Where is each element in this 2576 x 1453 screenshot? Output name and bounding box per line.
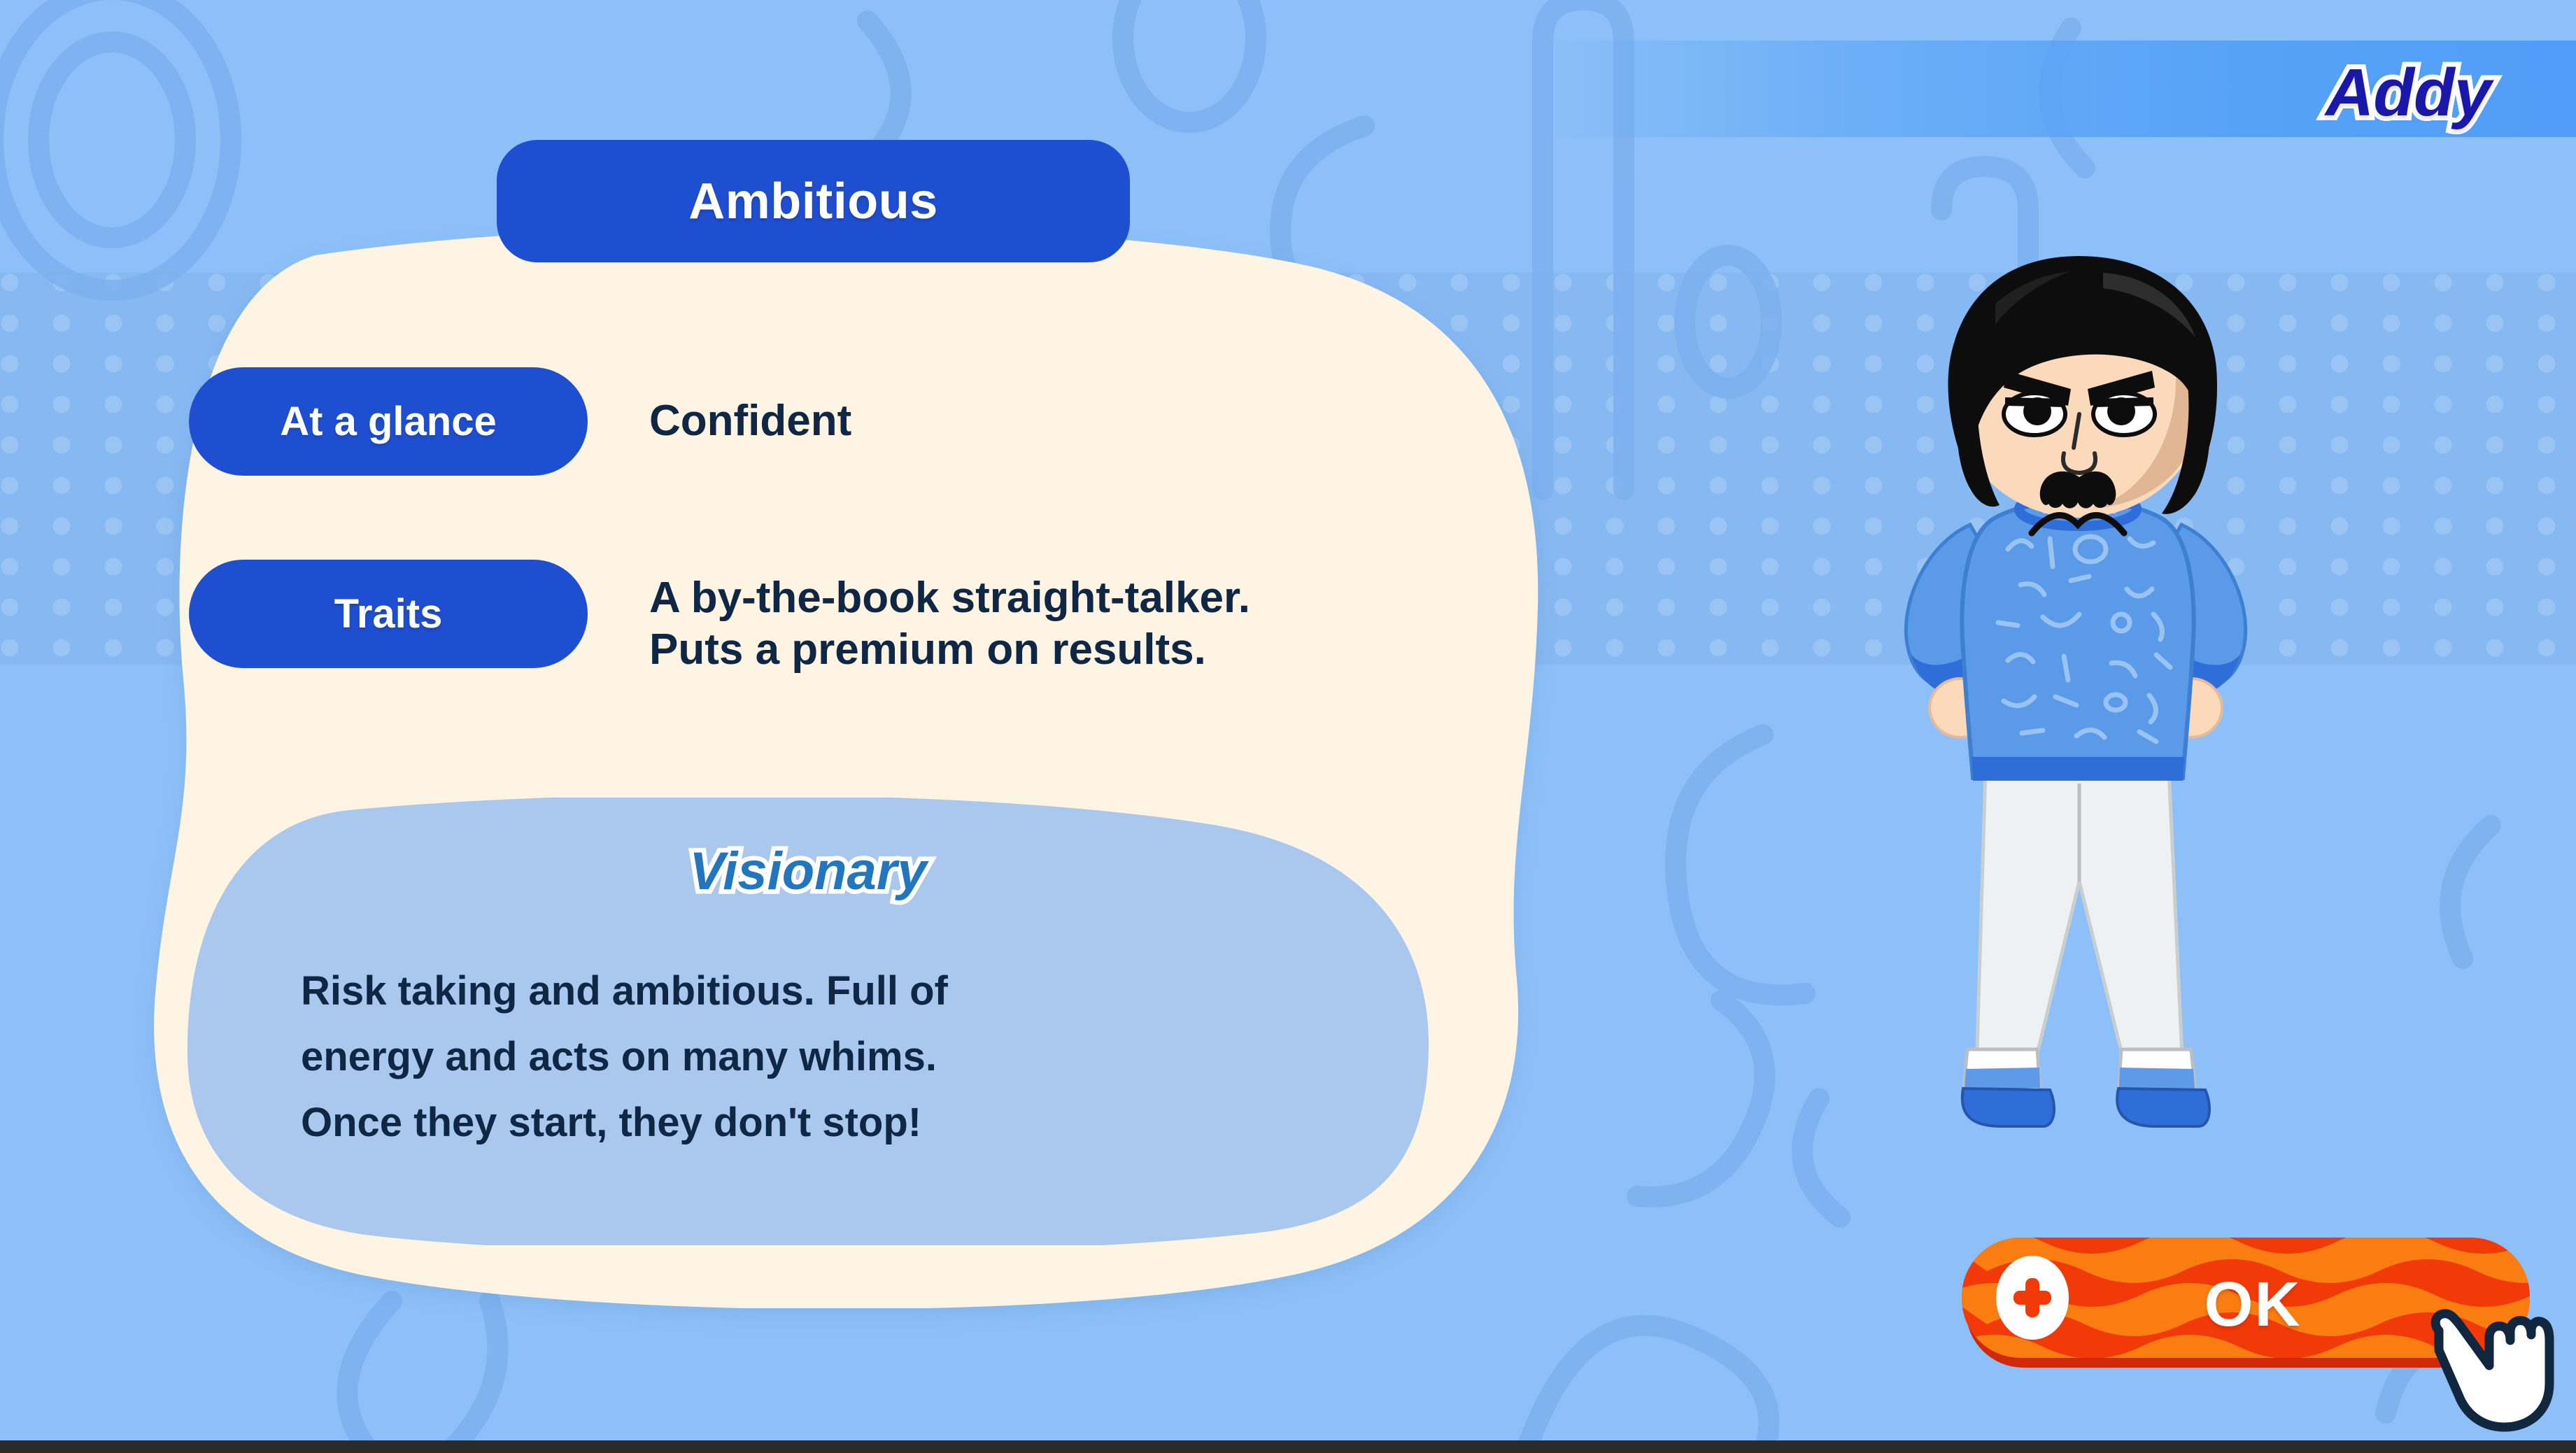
mii-avatar <box>1833 231 2323 1210</box>
label-pill-at-a-glance: At a glance <box>189 367 588 476</box>
pointing-hand-cursor <box>2407 1287 2561 1441</box>
plus-circle-icon <box>1996 1256 2069 1340</box>
label-traits: Traits <box>334 590 443 637</box>
row-at-a-glance: At a glance Confident <box>189 367 851 476</box>
personality-card-content: Ambitious At a glance Confident Traits A… <box>105 231 1553 1308</box>
value-at-a-glance: Confident <box>649 367 851 447</box>
visionary-panel-content: Visionary Risk taking and ambitious. Ful… <box>182 798 1434 1245</box>
visionary-description: Risk taking and ambitious. Full of energ… <box>301 958 1336 1156</box>
personality-title-pill: Ambitious <box>497 140 1130 262</box>
row-traits: Traits A by-the-book straight-talker. Pu… <box>189 560 1250 676</box>
visionary-heading: Visionary <box>182 841 1434 902</box>
value-traits: A by-the-book straight-talker. Puts a pr… <box>649 560 1250 676</box>
bottom-bar <box>0 1440 2576 1453</box>
personality-title-text: Ambitious <box>688 173 937 230</box>
label-at-a-glance: At a glance <box>280 398 496 445</box>
mii-personality-screen: Addy Ambitious At a glance Confident Tra… <box>0 0 2576 1453</box>
label-pill-traits: Traits <box>189 560 588 668</box>
mii-name-label: Addy <box>2326 55 2491 132</box>
